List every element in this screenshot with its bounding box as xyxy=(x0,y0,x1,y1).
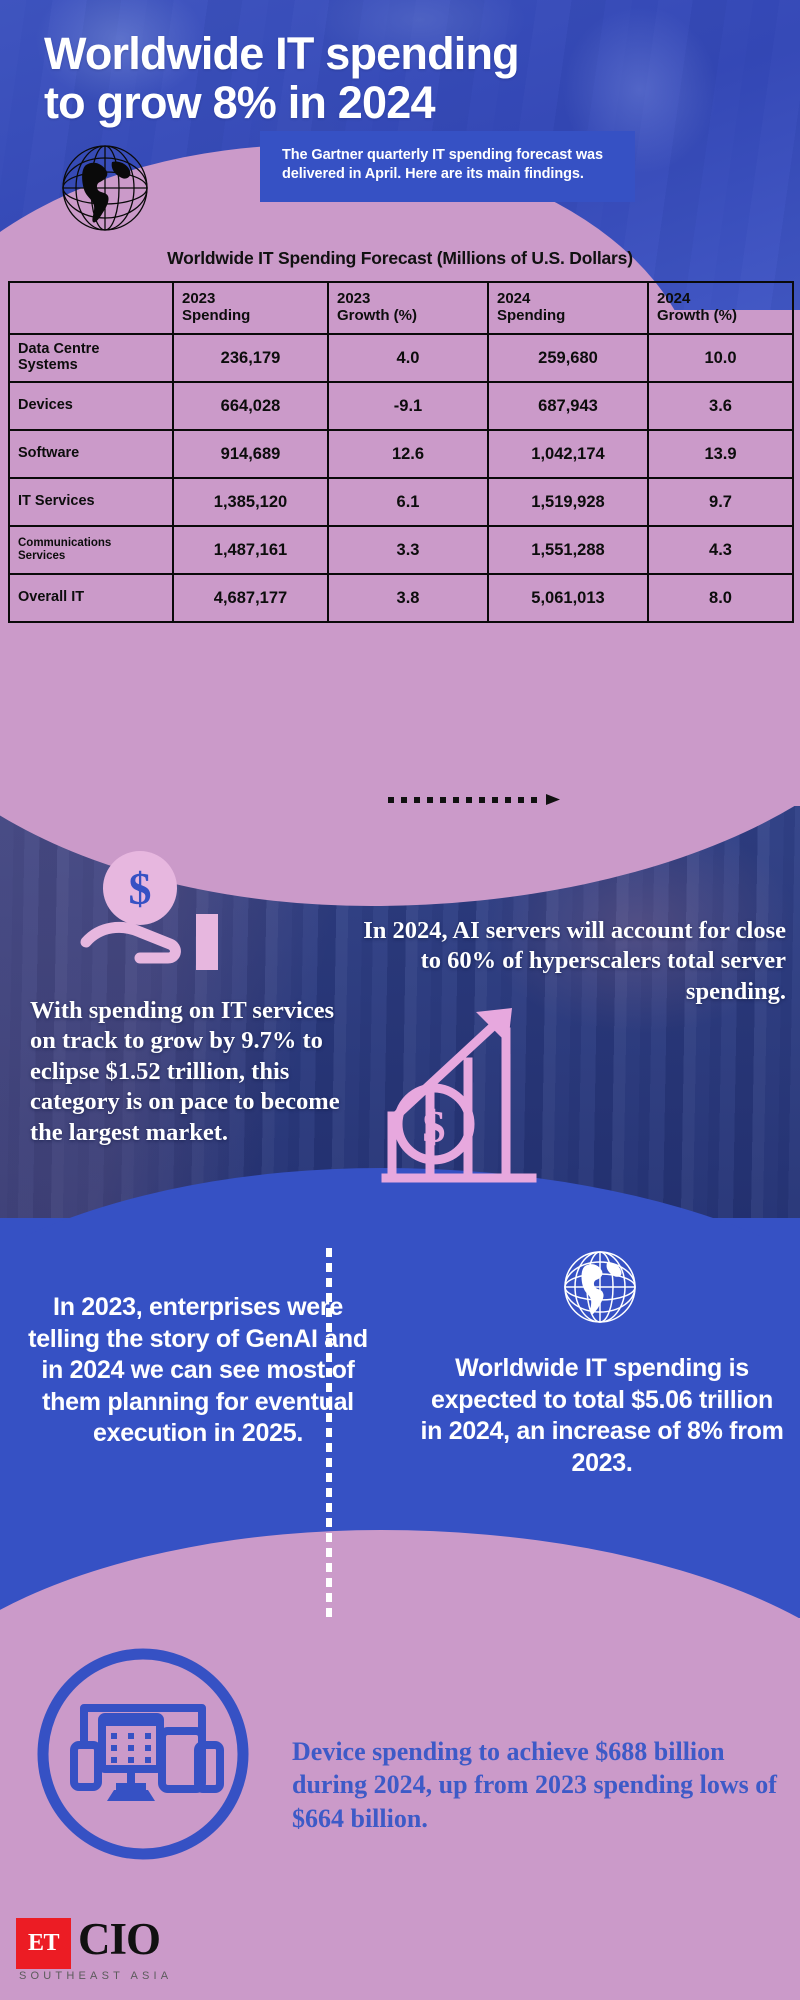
table-row: Data Centre Systems 236,179 4.0 259,680 … xyxy=(9,334,793,382)
row-label: Overall IT xyxy=(9,574,173,622)
table-header-2023-spending: 2023 Spending xyxy=(173,282,328,334)
cell-2023-growth: 6.1 xyxy=(328,478,488,526)
header-line-1: 2023 xyxy=(337,291,479,308)
row-label-line-2: Services xyxy=(18,550,168,563)
dotted-arrow-icon xyxy=(388,793,561,806)
row-label: Software xyxy=(9,430,173,478)
cell-2023-spending: 236,179 xyxy=(173,334,328,382)
cell-2023-growth: 4.0 xyxy=(328,334,488,382)
cell-2024-growth: 9.7 xyxy=(648,478,793,526)
table-row: Overall IT 4,687,177 3.8 5,061,013 8.0 xyxy=(9,574,793,622)
globe-icon xyxy=(50,140,160,236)
table-row: IT Services 1,385,120 6.1 1,519,928 9.7 xyxy=(9,478,793,526)
header-line-2: Growth (%) xyxy=(337,308,479,325)
table-row: Software 914,689 12.6 1,042,174 13.9 xyxy=(9,430,793,478)
logo-cio-text: CIO xyxy=(78,1918,160,1961)
cell-2023-spending: 1,487,161 xyxy=(173,526,328,574)
multi-device-icon xyxy=(34,1645,252,1868)
total-spending-statement: Worldwide IT spending is expected to tot… xyxy=(420,1353,784,1479)
table-body: Data Centre Systems 236,179 4.0 259,680 … xyxy=(9,334,793,622)
cell-2023-spending: 914,689 xyxy=(173,430,328,478)
cell-2024-spending: 259,680 xyxy=(488,334,648,382)
cell-2023-spending: 4,687,177 xyxy=(173,574,328,622)
row-label-line-1: Communications xyxy=(18,537,168,550)
genai-statement: In 2023, enterprises were telling the st… xyxy=(18,1292,378,1450)
row-label: IT Services xyxy=(9,478,173,526)
page-title-line-1: Worldwide IT spending xyxy=(44,30,519,79)
cell-2024-growth: 10.0 xyxy=(648,334,793,382)
table-title: Worldwide IT Spending Forecast (Millions… xyxy=(0,248,800,269)
header-line-2: Spending xyxy=(182,308,319,325)
svg-text:$: $ xyxy=(423,1101,446,1152)
cell-2023-growth: 3.8 xyxy=(328,574,488,622)
cell-2023-spending: 664,028 xyxy=(173,382,328,430)
city-photo-section: $ $ In 2024, AI servers will account for… xyxy=(0,806,800,1236)
spending-forecast-table-wrapper: 2023 Spending 2023 Growth (%) 2024 Spend… xyxy=(8,281,792,623)
logo-tagline: SOUTHEAST ASIA xyxy=(19,1970,172,1982)
cell-2023-growth: 3.3 xyxy=(328,526,488,574)
subtitle-callout: The Gartner quarterly IT spending foreca… xyxy=(260,131,635,202)
row-label-line-2: Systems xyxy=(18,358,168,374)
row-label-line-1: Data Centre xyxy=(18,342,168,358)
cell-2024-spending: 1,519,928 xyxy=(488,478,648,526)
table-header-2024-spending: 2024 Spending xyxy=(488,282,648,334)
svg-text:$: $ xyxy=(129,863,152,914)
row-label: Data Centre Systems xyxy=(9,334,173,382)
cell-2024-growth: 3.6 xyxy=(648,382,793,430)
ai-servers-statement: In 2024, AI servers will account for clo… xyxy=(350,916,786,1007)
header-line-1: 2023 xyxy=(182,291,319,308)
table-header-2023-growth: 2023 Growth (%) xyxy=(328,282,488,334)
growth-bar-chart-icon: $ xyxy=(372,996,572,1191)
cell-2024-spending: 1,551,288 xyxy=(488,526,648,574)
table-row: Communications Services 1,487,161 3.3 1,… xyxy=(9,526,793,574)
cell-2024-growth: 4.3 xyxy=(648,526,793,574)
table-header-segment xyxy=(9,282,173,334)
spending-forecast-table: 2023 Spending 2023 Growth (%) 2024 Spend… xyxy=(8,281,794,623)
table-header-2024-growth: 2024 Growth (%) xyxy=(648,282,793,334)
hand-holding-dollar-icon: $ xyxy=(78,846,258,996)
blue-bottom-curve-decoration xyxy=(0,1530,800,1618)
cell-2024-spending: 687,943 xyxy=(488,382,648,430)
it-services-statement: With spending on IT services on track to… xyxy=(30,996,360,1148)
arrow-head-icon xyxy=(546,793,561,806)
header-line-2: Spending xyxy=(497,308,639,325)
header-line-1: 2024 xyxy=(497,291,639,308)
cell-2024-growth: 13.9 xyxy=(648,430,793,478)
cell-2023-spending: 1,385,120 xyxy=(173,478,328,526)
cell-2024-growth: 8.0 xyxy=(648,574,793,622)
cell-2023-growth: -9.1 xyxy=(328,382,488,430)
globe-icon xyxy=(558,1245,642,1334)
page-title: Worldwide IT spending to grow 8% in 2024 xyxy=(44,30,519,127)
table-row: Devices 664,028 -9.1 687,943 3.6 xyxy=(9,382,793,430)
page-title-line-2: to grow 8% in 2024 xyxy=(44,79,519,128)
table-header-row: 2023 Spending 2023 Growth (%) 2024 Spend… xyxy=(9,282,793,334)
cell-2023-growth: 12.6 xyxy=(328,430,488,478)
blue-highlights-section: In 2023, enterprises were telling the st… xyxy=(0,1218,800,1618)
header-line-1: 2024 xyxy=(657,291,784,308)
etcio-logo[interactable]: ET CIO xyxy=(16,1918,160,1969)
cell-2024-spending: 1,042,174 xyxy=(488,430,648,478)
header-line-2: Growth (%) xyxy=(657,308,784,325)
cell-2024-spending: 5,061,013 xyxy=(488,574,648,622)
row-label: Communications Services xyxy=(9,526,173,574)
logo-et-badge: ET xyxy=(16,1918,71,1969)
subtitle-text: The Gartner quarterly IT spending foreca… xyxy=(282,147,603,182)
row-label: Devices xyxy=(9,382,173,430)
device-spending-statement: Device spending to achieve $688 billion … xyxy=(292,1735,792,1835)
